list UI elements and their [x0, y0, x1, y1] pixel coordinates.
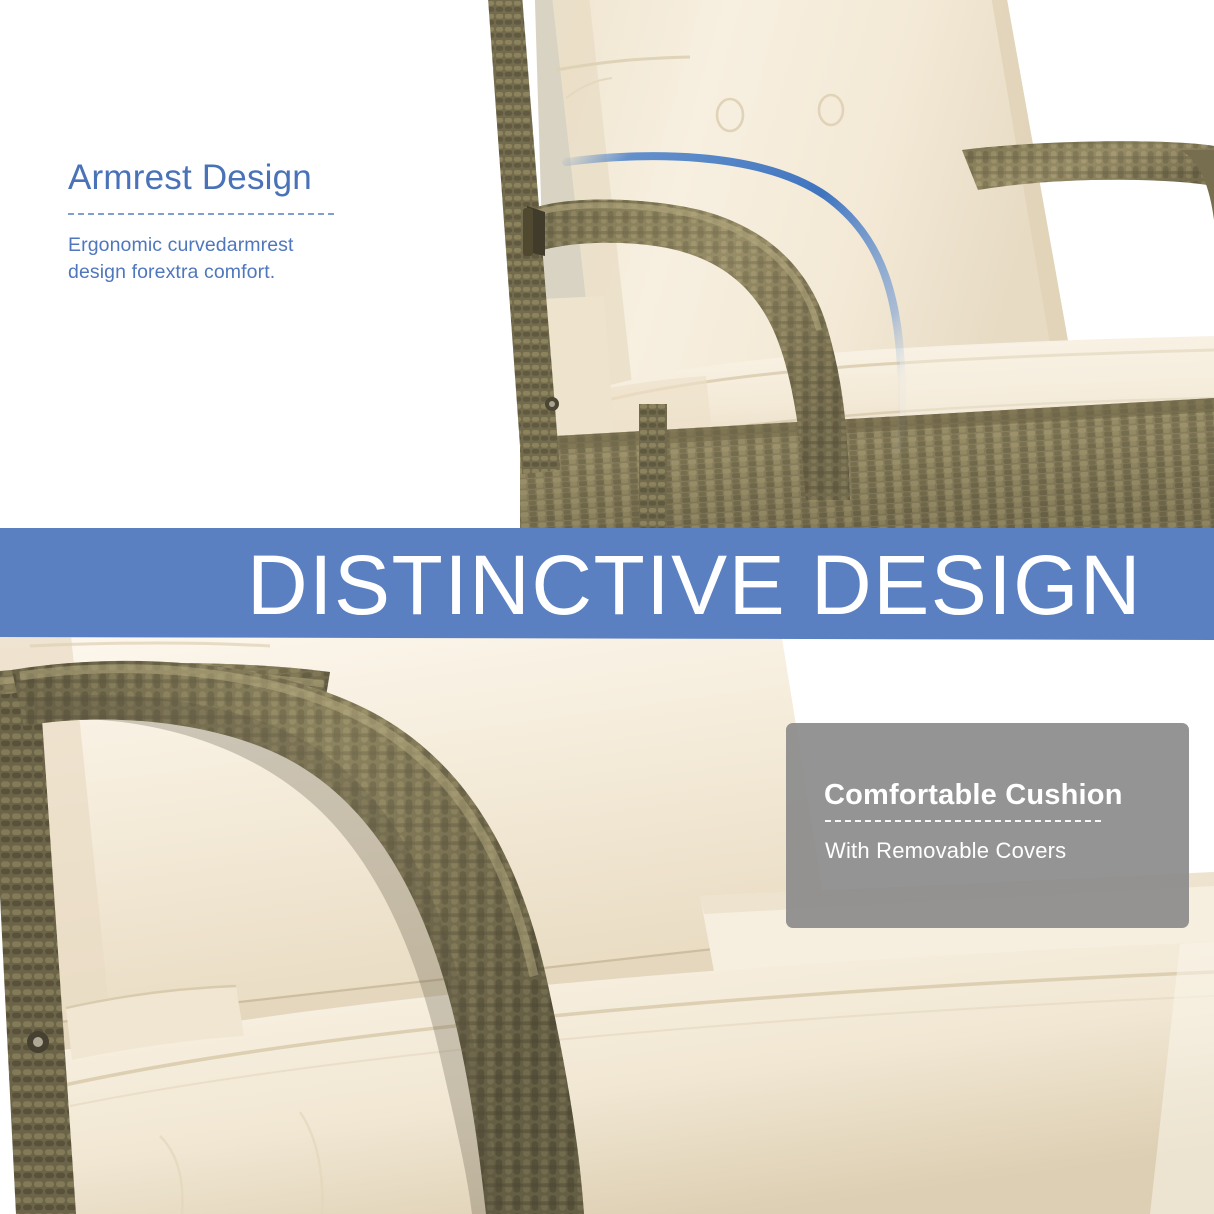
armrest-callout-description-line2: design forextra comfort.: [68, 259, 408, 286]
armrest-callout-description-line1: Ergonomic curvedarmrest: [68, 232, 408, 259]
comfortable-cushion-title: Comfortable Cushion: [824, 779, 1123, 812]
infographic-page: Armrest Design Ergonomic curvedarmrest d…: [0, 0, 1214, 1214]
distinctive-design-banner-text: DISTINCTIVE DESIGN: [247, 543, 1142, 627]
distinctive-design-banner-text-wrap: DISTINCTIVE DESIGN: [0, 528, 1214, 641]
armrest-callout-title: Armrest Design: [68, 160, 408, 197]
armrest-callout-description: Ergonomic curvedarmrest design forextra …: [68, 232, 408, 286]
armrest-callout: Armrest Design Ergonomic curvedarmrest d…: [68, 160, 408, 286]
comfortable-cushion-divider: [825, 820, 1101, 822]
armrest-callout-divider: [68, 213, 334, 215]
comfortable-cushion-subtitle: With Removable Covers: [825, 838, 1066, 864]
comfortable-cushion-callout: [786, 723, 1189, 928]
